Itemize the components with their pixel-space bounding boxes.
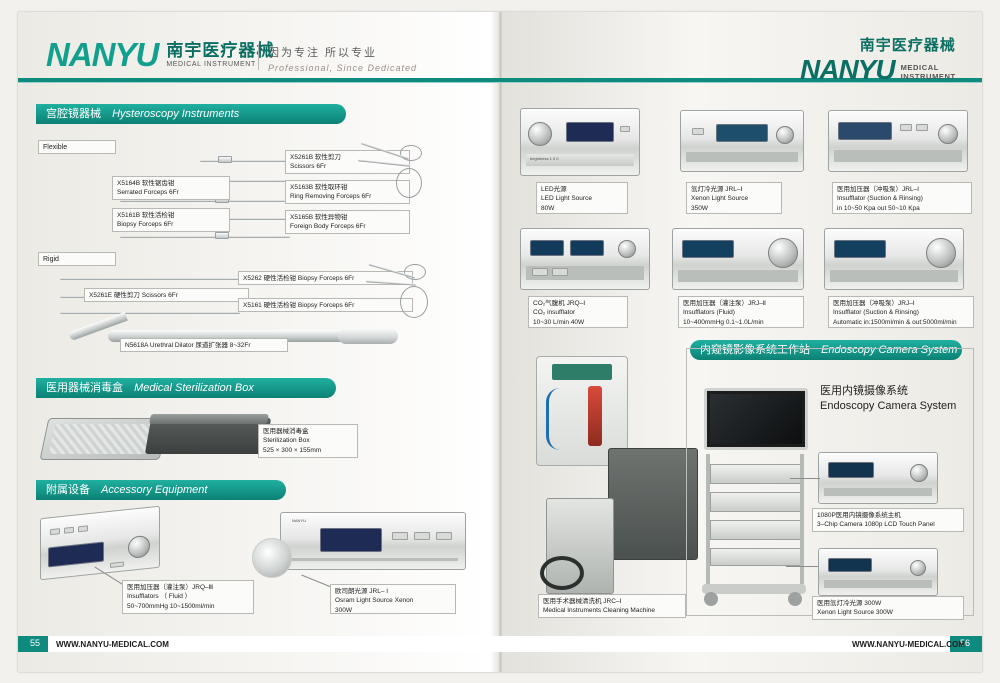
leader-line [786, 566, 818, 567]
light-guide-coupler-art [252, 538, 292, 578]
footer-url-right[interactable]: WWW.NANYU-MEDICAL.COM [852, 640, 965, 649]
section-hysteroscopy-cn: 宫腔镜器械 [46, 108, 101, 120]
caption-line-2: Medical Instruments Cleaning Machine [543, 606, 681, 615]
device-xenon-lamp-300w [818, 548, 938, 596]
caption-line-1: 医用加压器（灌注泵）JRQ–Ⅲ [127, 583, 249, 592]
leader-line [790, 478, 820, 479]
caption-co2-insufflator: CO₂气腹机 JRQ–Ⅰ CO₂ insufflator 10~30 L/min… [528, 296, 628, 328]
caption-line-3: 50~700mmHg 10~1500ml/min [127, 602, 249, 611]
endoscopy-system-title: 医用内镜摄像系统 Endoscopy Camera System [820, 382, 970, 412]
caption-line-2: Xenon Light Source [691, 194, 777, 203]
caption-line-3: Automatic in:1500ml/min & out:5000ml/min [833, 318, 969, 327]
logo-right: 南宇医疗器械 NANYU MEDICAL INSTRUMENT [800, 34, 956, 84]
caption-insufflator-suction-rinsing: 医用加压器（冲吸泵）JRL–Ⅰ Insufflator (Suction & R… [832, 182, 972, 214]
section-sterilization: 医用器械消毒盒 Medical Sterilization Box [36, 378, 336, 398]
page-gutter [499, 12, 502, 672]
section-hysteroscopy-en: Hysteroscopy Instruments [112, 108, 239, 120]
instrument-shaft [200, 160, 295, 162]
caption-line-3: 10~400mmHg 0.1~1.0L/min [683, 318, 799, 327]
caption-line-1: 医用器械消毒盒 [263, 427, 353, 436]
caption-line-1: 医用手术器械清洗机 JRC–Ⅰ [543, 597, 681, 606]
caption-line-2: Sterilization Box [263, 436, 353, 445]
caption-osram-light-source: 欧司朗光源 JRL– I Osram Light Source Xenon 30… [330, 584, 456, 614]
caption-line-cn: X5165B 软性异物钳 [290, 213, 405, 222]
instrument-shaft [120, 236, 290, 238]
section-accessory: 附属设备 Accessory Equipment [36, 480, 286, 500]
cart-shelf-3 [710, 520, 802, 540]
caption-line-2: Insufflator (Suction & Rinsing) [837, 194, 967, 203]
cart-monitor-screen [710, 394, 802, 444]
caption-line-1: 欧司朗光源 JRL– I [335, 587, 451, 596]
logo-left: NANYU 南宇医疗器械 MEDICAL INSTRUMENT [46, 36, 274, 71]
brand-right-line2: INSTRUMENT [901, 72, 956, 81]
caption-line-1: 医用加压器（灌注泵）JRJ–Ⅱ [683, 299, 799, 308]
cart-shelf-1 [710, 464, 802, 484]
caption-line-2: CO₂ insufflator [533, 308, 623, 317]
caption-line-1: LED光源 [541, 185, 623, 194]
group-rigid-label: Rigid [38, 252, 116, 266]
caption-line-en: Serrated Forceps 6Fr [117, 188, 225, 197]
device-camera-control-unit [818, 452, 938, 504]
brand-cn-right: 南宇医疗器械 [800, 34, 956, 55]
caption-line-1: 1080P医用内镜摄像系统主机 [817, 511, 959, 520]
instrument-shaft [120, 200, 290, 202]
footer-url-left[interactable]: WWW.NANYU-MEDICAL.COM [56, 640, 169, 649]
caption-led-light-source: LED光源 LED Light Source 80W [536, 182, 628, 214]
brand-wordmark-left: NANYU [46, 38, 158, 71]
caption-sterilization-box: 医用器械消毒盒 Sterilization Box 525 × 300 × 15… [258, 424, 358, 458]
catalog-page: NANYU 南宇医疗器械 MEDICAL INSTRUMENT 因为专注 所以专… [0, 0, 1000, 683]
cart-column-left [706, 454, 710, 584]
device-led-light-source: brightness 1 0 0 [520, 108, 640, 176]
caption-line-1: 医用氙灯冷光源 300W [817, 599, 959, 608]
caption-camera-control-unit: 1080P医用内镜摄像系统主机 3–Chip Camera 1080p LCD … [812, 508, 964, 532]
caption-line-2: Insufflators （ Fluid ） [127, 592, 249, 601]
caption-line-3: 350W [691, 204, 777, 213]
caption-line-2: Insufflator (Suction & Rinsing) [833, 308, 969, 317]
device-insufflator-fluid-jrj2 [672, 228, 804, 290]
caption-line-3: in 10~50 Kpa out 50~10 Kpa [837, 204, 967, 213]
instrument-tip [218, 156, 232, 163]
section-hysteroscopy: 宫腔镜器械 Hysteroscopy Instruments [36, 104, 346, 124]
instrument-shaft [60, 278, 240, 280]
caption-line-1: 氙灯冷光源 JRL–Ⅰ [691, 185, 777, 194]
endoscopy-system-title-en: Endoscopy Camera System [820, 400, 970, 412]
cleaning-machine-panel [552, 364, 612, 380]
group-flexible-label: Flexible [38, 140, 116, 154]
device-xenon-light-source-350w [680, 110, 804, 172]
caption-urethral-dilator: N5618A Urethral Dilator 尿道扩张器 8~32Fr [120, 338, 288, 352]
endoscopy-system-title-cn: 医用内镜摄像系统 [820, 382, 970, 398]
caption-line-2: Osram Light Source Xenon [335, 596, 451, 605]
cleaning-machine-coil [540, 556, 584, 590]
device-insufflator-automatic [824, 228, 964, 290]
endoscopy-cart [694, 388, 814, 610]
caption-line-2: Insufflators (Fluid) [683, 308, 799, 317]
sterilization-box-closed [148, 412, 274, 468]
caption-line-en: Foreign Body Forceps 6Fr [290, 222, 405, 231]
forceps-handle-ring [400, 145, 422, 161]
cart-caster-left [704, 592, 718, 606]
section-accessory-cn: 附属设备 [46, 484, 90, 496]
caption-serrated-forceps: X5164B 软性锯齿钳 Serrated Forceps 6Fr [112, 176, 230, 200]
cart-shelf-4 [710, 548, 802, 566]
forceps-handle-ring [396, 168, 422, 198]
device-insufflator-suction-rinsing [828, 110, 968, 172]
caption-cleaning-machine: 医用手术器械清洗机 JRC–Ⅰ Medical Instruments Clea… [538, 594, 686, 618]
caption-biopsy-forceps-flex: X5161B 软性活检钳 Biopsy Forceps 6Fr [112, 208, 230, 232]
caption-line-cn: X5164B 软性锯齿钳 [117, 179, 225, 188]
caption-foreign-body-forceps: X5165B 软性异物钳 Foreign Body Forceps 6Fr [285, 210, 410, 234]
caption-ring-removing-forceps: X5163B 软性取环钳 Ring Removing Forceps 6Fr [285, 180, 410, 204]
slogan-block: 因为专注 所以专业 Professional, Since Dedicated [268, 44, 417, 73]
caption-line-3: 525 × 300 × 155mm [263, 446, 353, 455]
cleaning-machine-gun [588, 386, 602, 446]
section-sterilization-en: Medical Sterilization Box [134, 382, 254, 394]
cart-caster-right [788, 592, 802, 606]
caption-line-2: Xenon Light Source 300W [817, 608, 959, 617]
device-co2-insufflator [520, 228, 650, 290]
caption-line-cn: X5161B 软性活检钳 [117, 211, 225, 220]
section-accessory-en: Accessory Equipment [101, 484, 207, 496]
caption-line-en: Ring Removing Forceps 6Fr [290, 192, 405, 201]
caption-biopsy-forceps-rigid-2: X5161 硬性活检钳 Biopsy Forceps 6Fr [238, 298, 413, 312]
caption-line-cn: X5261B 软性剪刀 [290, 153, 405, 162]
caption-line-1: CO₂气腹机 JRQ–Ⅰ [533, 299, 623, 308]
caption-line-1: 医用加压器（冲吸泵）JRJ–Ⅰ [833, 299, 969, 308]
device-osram-light-source: NANYU [280, 512, 466, 570]
brand-right-line1: MEDICAL [901, 63, 956, 72]
page-number-left: 55 [22, 638, 48, 648]
caption-xenon-lamp-300w: 医用氙灯冷光源 300W Xenon Light Source 300W [812, 596, 964, 620]
caption-line-cn: X5163B 软性取环钳 [290, 183, 405, 192]
instrument-tip [215, 232, 229, 239]
slogan-divider [258, 44, 259, 70]
slogan-cn: 因为专注 所以专业 [268, 44, 417, 60]
caption-line-en: Biopsy Forceps 6Fr [117, 220, 225, 229]
section-sterilization-cn: 医用器械消毒盒 [46, 382, 123, 394]
caption-line-3: 300W [335, 606, 451, 615]
forceps-handle-ring [400, 286, 428, 318]
cart-shelf-2 [710, 492, 802, 512]
caption-insufflator-automatic: 医用加压器（冲吸泵）JRJ–Ⅰ Insufflator (Suction & R… [828, 296, 974, 328]
caption-line-2: 3–Chip Camera 1080p LCD Touch Panel [817, 520, 959, 529]
slogan-en: Professional, Since Dedicated [268, 63, 417, 73]
cart-column-right [800, 454, 804, 584]
device-cleaning-machine-body [608, 448, 698, 560]
caption-line-3: 10~30 L/min 40W [533, 318, 623, 327]
caption-insufflator-fluid: 医用加压器（灌注泵）JRQ–Ⅲ Insufflators （ Fluid ） 5… [122, 580, 254, 614]
caption-scissors-rigid: X5261E 硬性剪刀 Scissors 6Fr [84, 288, 249, 302]
caption-line-1: 医用加压器（冲吸泵）JRL–Ⅰ [837, 185, 967, 194]
caption-line-2: LED Light Source [541, 194, 623, 203]
caption-insufflator-fluid-jrj2: 医用加压器（灌注泵）JRJ–Ⅱ Insufflators (Fluid) 10~… [678, 296, 804, 328]
cleaning-machine-hose [546, 388, 574, 450]
caption-line-3: 80W [541, 204, 623, 213]
caption-xenon-light-source-350w: 氙灯冷光源 JRL–Ⅰ Xenon Light Source 350W [686, 182, 782, 214]
brand-wordmark-right: NANYU [800, 56, 895, 84]
